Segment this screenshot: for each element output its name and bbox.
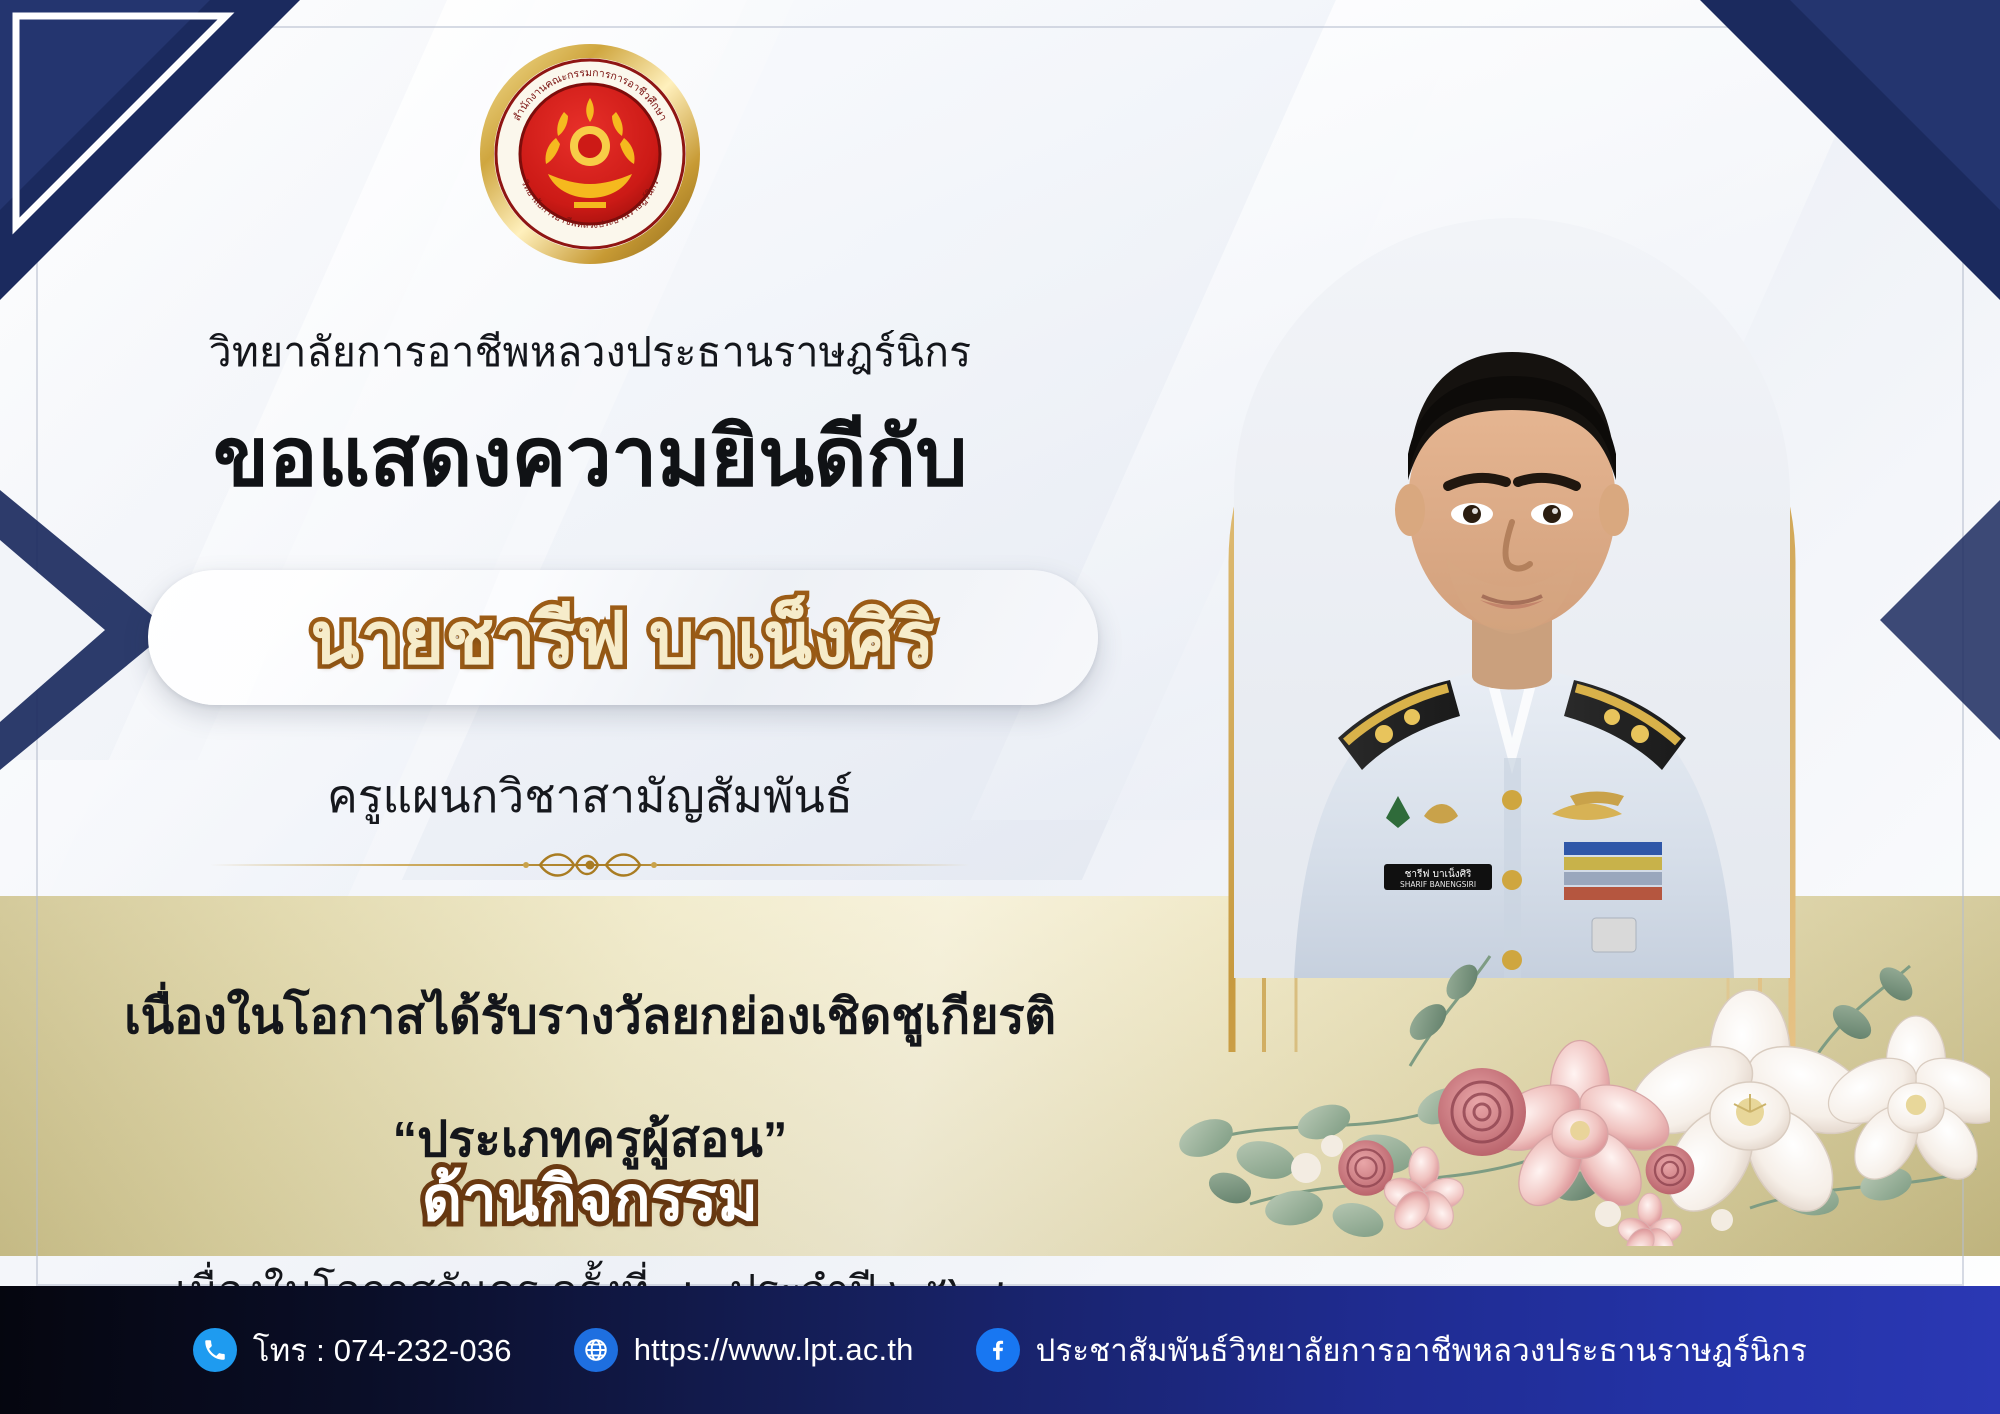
- phone-icon: [193, 1328, 237, 1372]
- portrait-zone: ชารีฟ บาเน็งศิริ SHARIF BANENGSIRI: [1100, 0, 2000, 1286]
- floral-decoration: [1110, 816, 1990, 1246]
- emblem-logo: สำนักงานคณะกรรมการการอาชีวศึกษา วิทยาลัย…: [478, 42, 702, 266]
- facebook-icon: [976, 1328, 1020, 1372]
- honoree-name: นายชารีฟ บาเน็งศิริ: [310, 580, 935, 695]
- footer-website[interactable]: https://www.lpt.ac.th: [574, 1328, 914, 1372]
- award-field: ด้านกิจกรรม: [0, 1150, 1180, 1248]
- website-url: https://www.lpt.ac.th: [634, 1332, 914, 1368]
- headline-congratulations: ขอแสดงความยินดีกับ: [0, 410, 1180, 505]
- ornament-divider: [210, 842, 970, 888]
- content-column: สำนักงานคณะกรรมการการอาชีวศึกษา วิทยาลัย…: [0, 0, 1180, 1286]
- school-name: วิทยาลัยการอาชีพหลวงประธานราษฎร์นิกร: [0, 330, 1180, 375]
- phone-label: โทร : 074-232-036: [253, 1325, 512, 1375]
- honoree-name-pill: นายชารีฟ บาเน็งศิริ: [148, 570, 1098, 705]
- footer-phone[interactable]: โทร : 074-232-036: [193, 1325, 512, 1375]
- college-emblem-icon: สำนักงานคณะกรรมการการอาชีวศึกษา วิทยาลัย…: [478, 42, 702, 266]
- footer-contact-bar: โทร : 074-232-036 https://www.lpt.ac.th …: [0, 1286, 2000, 1414]
- award-reason: เนื่องในโอกาสได้รับรางวัลยกย่องเชิดชูเกี…: [0, 988, 1180, 1048]
- certificate-canvas: สำนักงานคณะกรรมการการอาชีวศึกษา วิทยาลัย…: [0, 0, 2000, 1414]
- honoree-role: ครูแผนกวิชาสามัญสัมพันธ์: [0, 760, 1180, 833]
- facebook-page-name: ประชาสัมพันธ์วิทยาลัยการอาชีพหลวงประธานร…: [1036, 1325, 1807, 1375]
- globe-icon: [574, 1328, 618, 1372]
- footer-facebook[interactable]: ประชาสัมพันธ์วิทยาลัยการอาชีพหลวงประธานร…: [976, 1325, 1807, 1375]
